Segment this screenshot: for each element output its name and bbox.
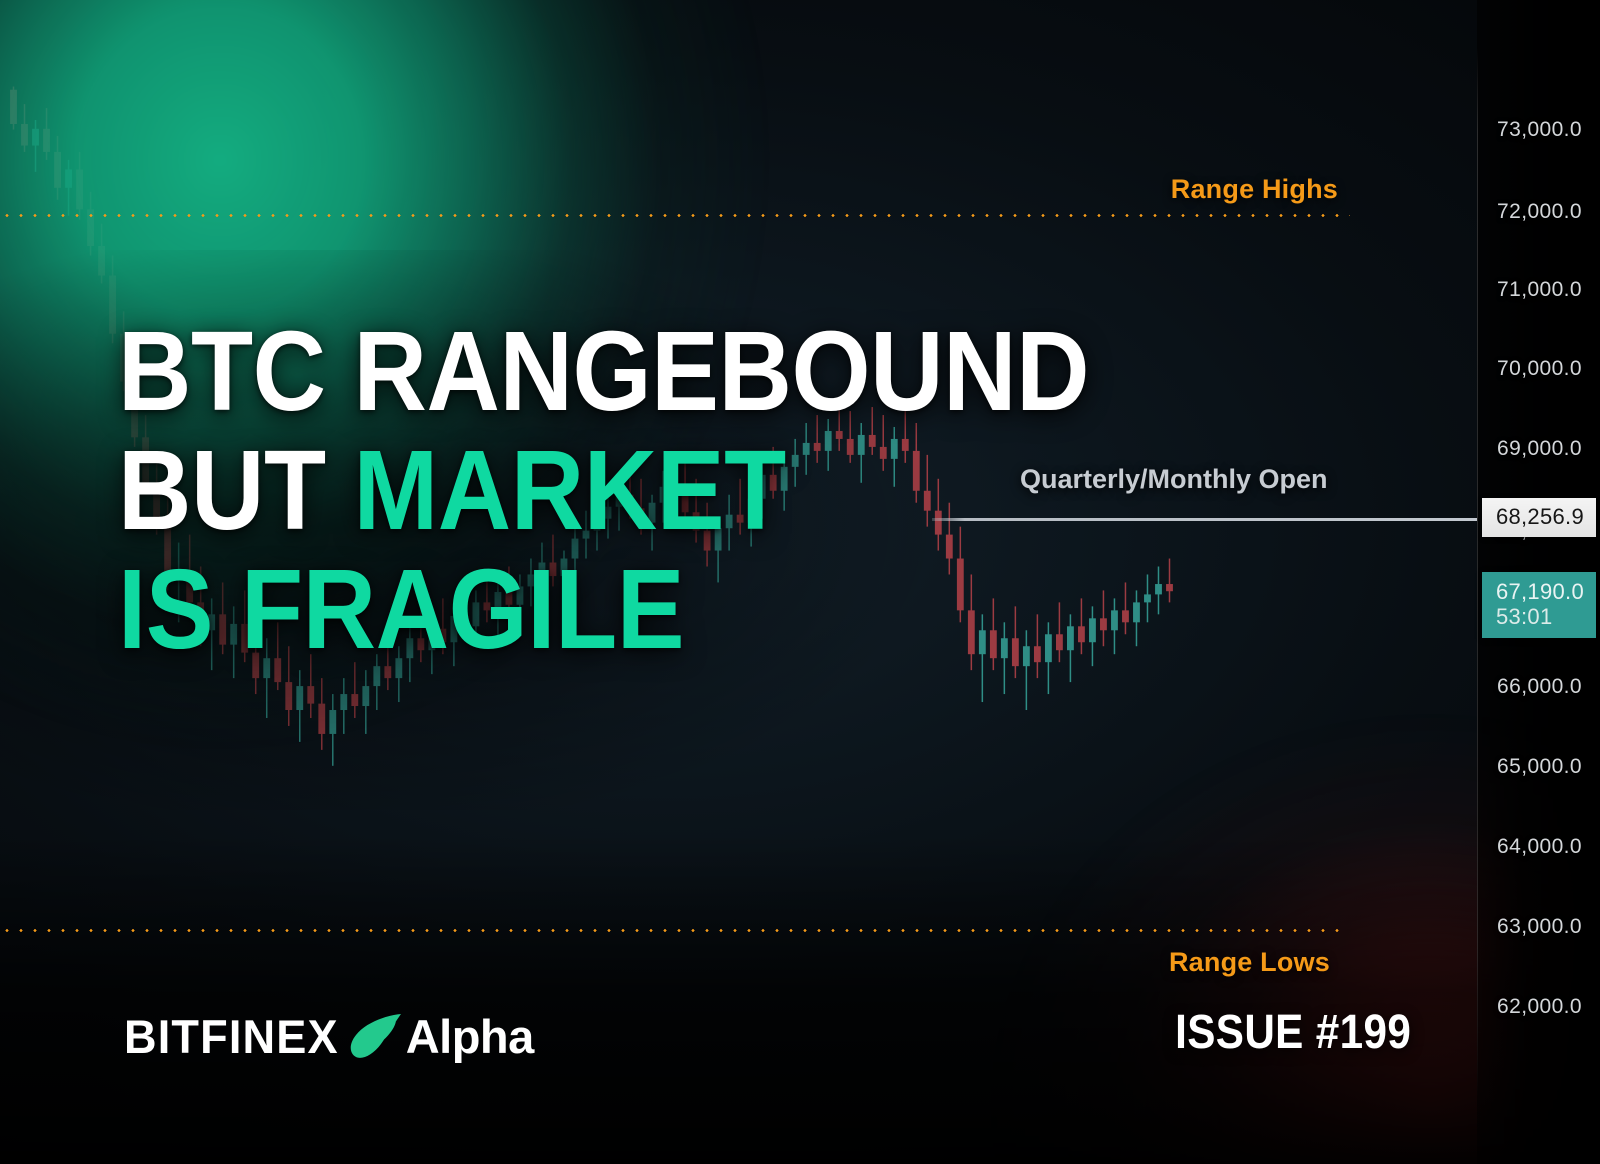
- last-price-value: 67,190.0: [1496, 579, 1584, 604]
- leaf-icon: [344, 1011, 406, 1061]
- price-axis-tick: 71,000.0: [1497, 278, 1582, 302]
- range-highs-label: Range Highs: [1171, 174, 1338, 205]
- headline-line-2-green: MARKET: [353, 427, 785, 553]
- logo-wordmark: BITFINEX: [124, 1009, 339, 1064]
- price-axis-tick: 72,000.0: [1497, 200, 1582, 224]
- headline-line-1: BTC RANGEBOUND: [118, 318, 982, 424]
- headline-line-2: BUT MARKET: [118, 437, 982, 543]
- price-axis-tick: 73,000.0: [1497, 118, 1582, 142]
- price-axis-tick: 70,000.0: [1497, 357, 1582, 381]
- price-axis-tick: 69,000.0: [1497, 437, 1582, 461]
- headline-line-2-white: BUT: [118, 427, 353, 553]
- price-axis-divider: [1477, 48, 1478, 1098]
- bottom-fade-overlay: [0, 834, 1600, 1164]
- price-axis-tick: 66,000.0: [1497, 675, 1582, 699]
- price-axis-tick: 65,000.0: [1497, 755, 1582, 779]
- issue-number: ISSUE #199: [1175, 1005, 1411, 1060]
- open-price-badge: 68,256.9: [1482, 498, 1596, 537]
- headline-line-3: IS FRAGILE: [118, 556, 982, 662]
- price-axis-tick: 62,000.0: [1497, 995, 1582, 1019]
- price-axis-tick: 64,000.0: [1497, 835, 1582, 859]
- bitfinex-alpha-logo: BITFINEX Alpha: [124, 1008, 534, 1064]
- range-lows-label: Range Lows: [1169, 947, 1330, 978]
- poster-canvas: Range Highs Range Lows Quarterly/Monthly…: [0, 0, 1600, 1164]
- price-axis-tick: 63,000.0: [1497, 915, 1582, 939]
- last-price-badge: 67,190.0 53:01: [1482, 572, 1596, 638]
- logo-product-name: Alpha: [406, 1009, 534, 1064]
- range-highs-line: [0, 213, 1350, 218]
- range-lows-line: [0, 928, 1340, 933]
- candle-countdown: 53:01: [1496, 604, 1584, 629]
- headline-block: BTC RANGEBOUND BUT MARKET IS FRAGILE: [118, 318, 1078, 676]
